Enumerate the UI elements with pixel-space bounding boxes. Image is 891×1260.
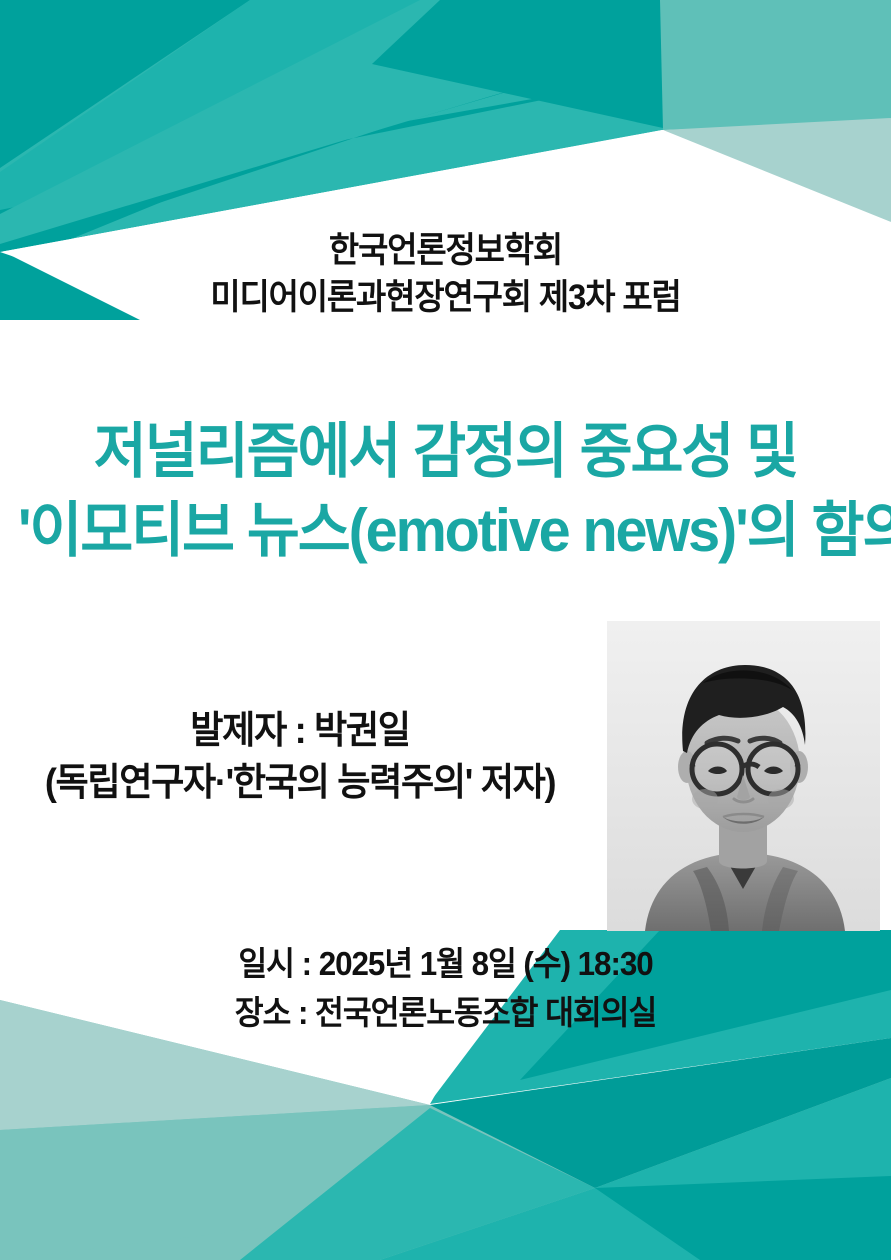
poster-title: 저널리즘에서 감정의 중요성 및 '이모티브 뉴스(emotive news)'… — [0, 412, 891, 570]
speaker-info: 발제자 : 박권일 (독립연구자·'한국의 능력주의' 저자) — [0, 706, 600, 809]
portrait-illustration — [607, 621, 880, 931]
event-venue: 장소 : 전국언론노동조합 대회의실 — [22, 989, 868, 1038]
title-line-1: 저널리즘에서 감정의 중요성 및 — [18, 412, 873, 491]
forum-poster: 한국언론정보학회 미디어이론과현장연구회 제3차 포럼 저널리즘에서 감정의 중… — [0, 0, 891, 1260]
speaker-name: 발제자 : 박권일 — [15, 706, 585, 758]
event-details: 일시 : 2025년 1월 8일 (수) 18:30 장소 : 전국언론노동조합… — [0, 940, 891, 1038]
speaker-portrait-photo — [607, 621, 880, 931]
host-forum-name: 미디어이론과현장연구회 제3차 포럼 — [27, 275, 865, 322]
host-organization: 한국언론정보학회 — [27, 228, 865, 275]
event-datetime: 일시 : 2025년 1월 8일 (수) 18:30 — [22, 940, 868, 989]
speaker-affiliation: (독립연구자·'한국의 능력주의' 저자) — [15, 758, 585, 810]
host-heading: 한국언론정보학회 미디어이론과현장연구회 제3차 포럼 — [0, 228, 891, 321]
title-line-2: '이모티브 뉴스(emotive news)'의 함의 — [18, 491, 873, 570]
